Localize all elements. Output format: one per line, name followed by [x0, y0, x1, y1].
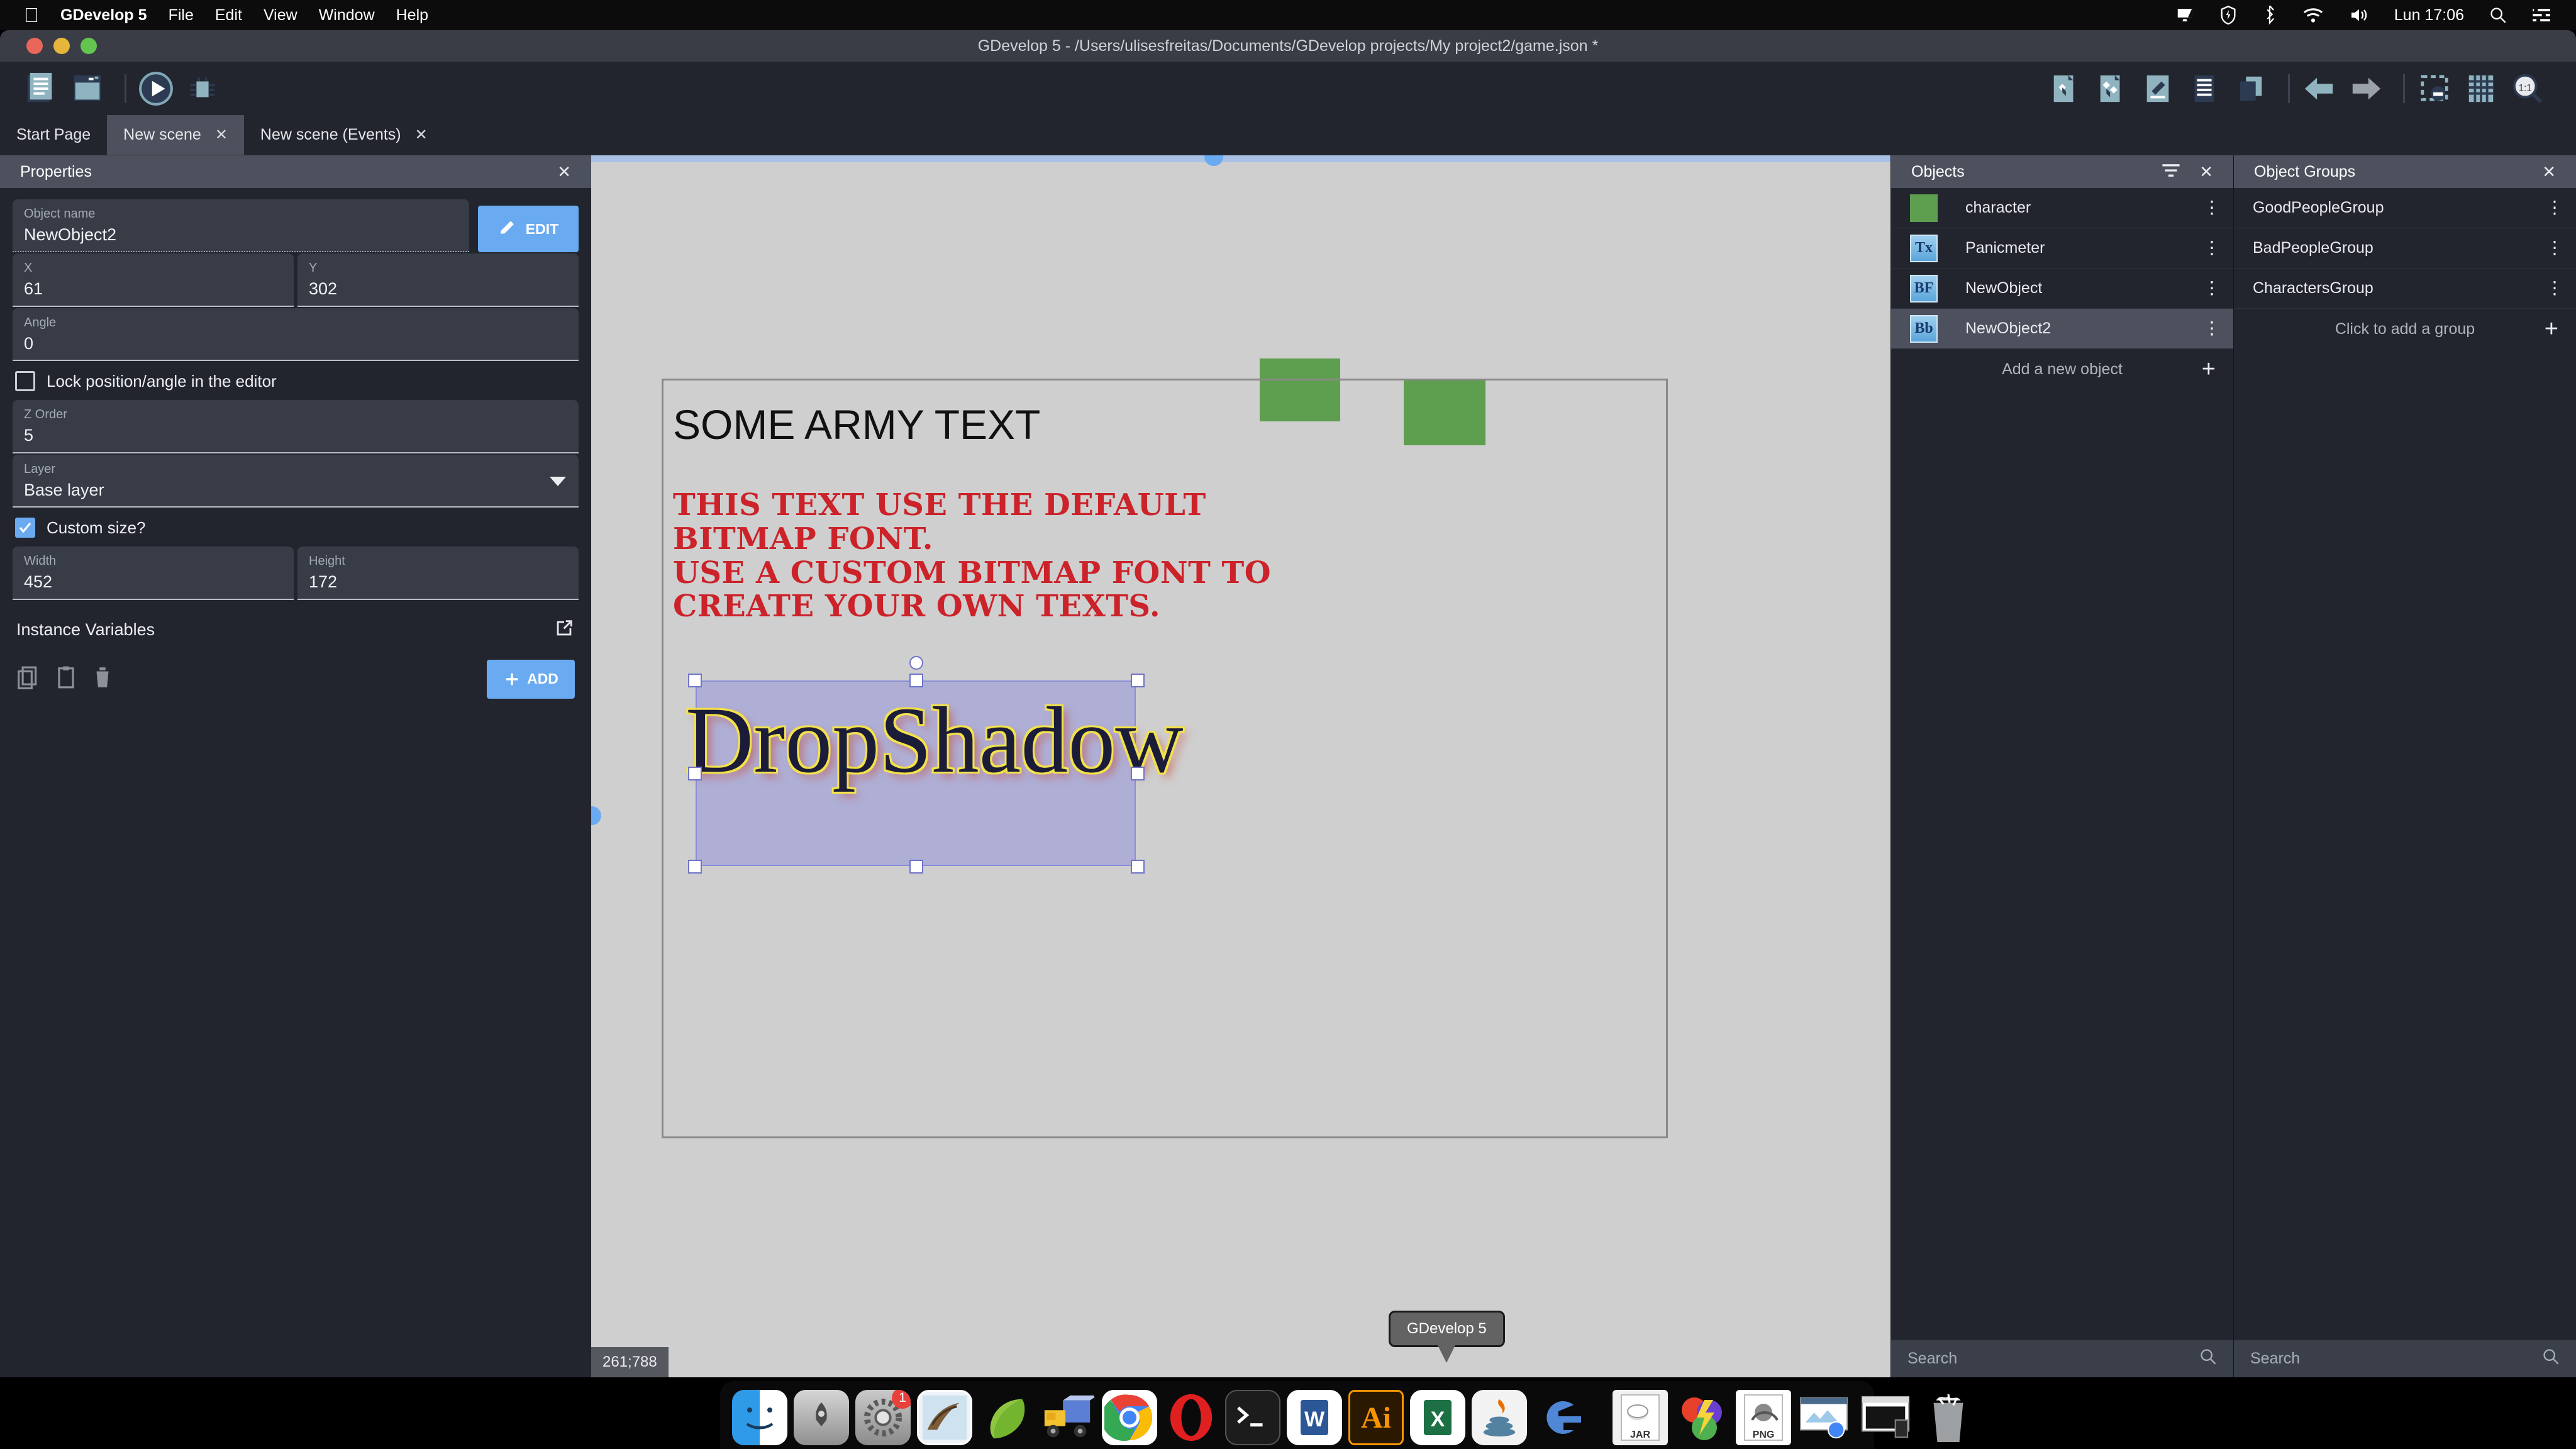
- group-list-item-goodpeople[interactable]: GoodPeopleGroup ⋮: [2234, 188, 2576, 228]
- properties-body: Object name NewObject2 EDIT X 61 Y: [0, 188, 591, 710]
- menu-item-window[interactable]: Window: [319, 6, 375, 25]
- redo-icon[interactable]: [2346, 69, 2385, 108]
- menu-app-name[interactable]: GDevelop 5: [60, 6, 147, 25]
- bitmap-text-line-4: CREATE YOUR OWN TEXTS.: [673, 590, 1271, 624]
- close-icon[interactable]: ✕: [2199, 164, 2213, 180]
- green-square-thumb: [1910, 194, 1938, 222]
- lock-position-checkbox[interactable]: [15, 371, 35, 391]
- bitmap-text-line-1: THIS TEXT USE THE DEFAULT: [673, 489, 1271, 523]
- height-field[interactable]: Height 172: [297, 547, 579, 599]
- app-file-icon[interactable]: [1674, 1390, 1729, 1445]
- edit-button[interactable]: EDIT: [478, 206, 579, 252]
- open-in-new-icon[interactable]: [553, 618, 575, 642]
- bitmap-text-icon: Bb: [1910, 315, 1938, 343]
- grid-icon[interactable]: [2462, 69, 2501, 108]
- layer-label: Layer: [24, 462, 567, 477]
- resize-handle-e[interactable]: [1131, 767, 1145, 780]
- adobe-illustrator-icon[interactable]: Ai: [1348, 1390, 1404, 1445]
- instance-variables-header: Instance Variables: [13, 601, 579, 648]
- custom-size-checkbox[interactable]: [15, 518, 35, 538]
- object-name-value: NewObject2: [24, 222, 458, 246]
- resize-handle-sw[interactable]: [688, 860, 702, 874]
- rotate-handle[interactable]: [909, 656, 923, 670]
- opera-icon[interactable]: [1163, 1390, 1219, 1445]
- apple-logo-icon[interactable]: : [24, 5, 39, 25]
- open-events-icon[interactable]: [2185, 69, 2224, 108]
- filter-icon[interactable]: [2162, 164, 2180, 180]
- resize-handle-ne[interactable]: [1131, 674, 1145, 687]
- menubar-clock[interactable]: Lun 17:06: [2394, 6, 2464, 25]
- lock-position-row[interactable]: Lock position/angle in the editor: [13, 362, 579, 400]
- object-name-field[interactable]: Object name NewObject2: [13, 199, 469, 252]
- wifi-icon[interactable]: [2302, 7, 2324, 23]
- object-name: NewObject2: [1965, 319, 2051, 338]
- toolbar-divider-3: [2403, 74, 2405, 103]
- sourcetree-icon[interactable]: [979, 1390, 1034, 1445]
- main-area: Properties ✕ Object name NewObject2 EDIT: [0, 155, 2576, 1377]
- kebab-menu-icon[interactable]: ⋮: [2203, 283, 2219, 294]
- add-new-object-button[interactable]: Add a new object +: [1891, 349, 2233, 389]
- scene-editor-canvas[interactable]: SOME ARMY TEXT THIS TEXT USE THE DEFAULT…: [591, 155, 1890, 1377]
- y-value: 302: [309, 276, 567, 300]
- object-name-label: Object name: [24, 206, 458, 222]
- svg-text:W: W: [1304, 1407, 1325, 1431]
- chevron-down-icon[interactable]: [550, 477, 566, 486]
- control-center-icon[interactable]: [2532, 7, 2551, 23]
- bitmap-font-icon: BF: [1910, 275, 1938, 303]
- panel-title: Properties: [20, 163, 92, 181]
- volume-icon[interactable]: [2349, 6, 2369, 24]
- paste-icon[interactable]: [55, 665, 77, 692]
- resize-handle-nw[interactable]: [688, 674, 702, 687]
- z-order-value: 5: [24, 423, 567, 447]
- editor-tabs: Start Page New scene ✕ New scene (Events…: [0, 115, 2576, 155]
- edit-button-label: EDIT: [526, 221, 558, 238]
- group-list-item-characters[interactable]: CharactersGroup ⋮: [2234, 269, 2576, 309]
- debug-icon[interactable]: [183, 69, 222, 108]
- tab-label: Start Page: [16, 126, 91, 144]
- google-chrome-icon[interactable]: [1102, 1390, 1157, 1445]
- angle-field[interactable]: Angle 0: [13, 308, 579, 361]
- position-row: X 61 Y 302: [13, 253, 579, 306]
- preview-play-icon[interactable]: [136, 69, 175, 108]
- truck-app-icon[interactable]: [1040, 1390, 1096, 1445]
- new-project-icon[interactable]: [21, 69, 60, 108]
- maximize-window-button[interactable]: [80, 38, 97, 54]
- shield-icon[interactable]: [2219, 6, 2237, 25]
- angle-value: 0: [24, 331, 567, 355]
- text-object-some-army-text[interactable]: SOME ARMY TEXT: [673, 401, 1040, 448]
- java-icon[interactable]: [1472, 1390, 1527, 1445]
- menu-item-help[interactable]: Help: [396, 6, 428, 25]
- svg-text:X: X: [1431, 1407, 1445, 1431]
- close-icon[interactable]: ✕: [557, 164, 571, 180]
- scene-resize-handle-top[interactable]: [1204, 155, 1223, 166]
- mail-icon[interactable]: [917, 1390, 972, 1445]
- menu-item-file[interactable]: File: [169, 6, 194, 25]
- add-button-label: ADD: [527, 670, 558, 687]
- resize-handle-s[interactable]: [909, 860, 923, 874]
- scene-resize-handle-left[interactable]: [591, 806, 601, 825]
- group-name: GoodPeopleGroup: [2253, 199, 2384, 217]
- panel-title: Object Groups: [2254, 163, 2355, 181]
- system-preferences-icon[interactable]: 1: [855, 1390, 911, 1445]
- groups-panel-header: Object Groups ✕: [2234, 155, 2576, 188]
- width-label: Width: [24, 553, 282, 569]
- svg-text:JAR: JAR: [1630, 1430, 1650, 1440]
- height-value: 172: [309, 569, 567, 593]
- cursor-coordinates: 261;788: [591, 1347, 669, 1377]
- microsoft-word-icon[interactable]: W: [1287, 1390, 1342, 1445]
- edit-scene-icon[interactable]: [2138, 69, 2177, 108]
- close-icon[interactable]: ✕: [2542, 164, 2556, 180]
- close-window-button[interactable]: [26, 38, 43, 54]
- bitmap-text-object[interactable]: THIS TEXT USE THE DEFAULT BITMAP FONT. U…: [673, 489, 1271, 624]
- close-icon[interactable]: ✕: [215, 126, 228, 144]
- add-group-label: Click to add a group: [2335, 320, 2475, 338]
- instance-variables-label: Instance Variables: [16, 620, 155, 640]
- tab-new-scene[interactable]: New scene ✕: [107, 115, 244, 155]
- tab-label: New scene (Events): [260, 126, 401, 144]
- layer-select[interactable]: Layer Base layer: [13, 455, 579, 508]
- objects-panel-header: Objects ✕: [1891, 155, 2233, 188]
- layer-value: Base layer: [24, 477, 567, 501]
- properties-panel: Properties ✕ Object name NewObject2 EDIT: [0, 155, 591, 1377]
- width-field[interactable]: Width 452: [13, 547, 294, 599]
- add-object-icon[interactable]: [2045, 69, 2084, 108]
- toolbar-right-group: 1:1: [2045, 69, 2555, 108]
- resize-handle-w[interactable]: [688, 767, 702, 780]
- objects-search-input[interactable]: Search: [1891, 1340, 2233, 1377]
- minimize-window-button[interactable]: [53, 38, 70, 54]
- app-tooltip: GDevelop 5: [1389, 1311, 1505, 1347]
- duplicate-icon[interactable]: [2231, 69, 2270, 108]
- menu-item-view[interactable]: View: [264, 6, 297, 25]
- search-icon[interactable]: [2542, 1348, 2560, 1370]
- add-variable-button[interactable]: ADD: [487, 660, 575, 699]
- kebab-menu-icon[interactable]: ⋮: [2546, 203, 2562, 213]
- window-controls: [26, 38, 97, 54]
- z-order-label: Z Order: [24, 407, 567, 423]
- window-stack-icon[interactable]: [1859, 1390, 1914, 1445]
- window-title-bar: GDevelop 5 - /Users/ulisesfreitas/Docume…: [0, 30, 2576, 62]
- svg-text:1:1: 1:1: [2518, 82, 2531, 93]
- object-groups-panel: Object Groups ✕ GoodPeopleGroup ⋮ BadPeo…: [2233, 155, 2576, 1377]
- groups-search-input[interactable]: Search: [2234, 1340, 2576, 1377]
- width-value: 452: [24, 569, 282, 593]
- close-icon[interactable]: ✕: [415, 126, 428, 144]
- kebab-menu-icon[interactable]: ⋮: [2546, 243, 2562, 253]
- pencil-icon: [498, 219, 517, 238]
- x-label: X: [24, 260, 282, 276]
- objects-search-placeholder: Search: [1907, 1350, 1957, 1368]
- group-name: BadPeopleGroup: [2253, 239, 2373, 257]
- x-field[interactable]: X 61: [13, 253, 294, 306]
- svg-text:PNG: PNG: [1753, 1430, 1775, 1440]
- bluetooth-icon[interactable]: [2262, 5, 2277, 25]
- copy-icon[interactable]: [16, 665, 39, 692]
- object-name: character: [1965, 199, 2031, 217]
- search-icon[interactable]: [2199, 1348, 2217, 1370]
- search-icon[interactable]: [2489, 6, 2507, 24]
- objects-panel: Objects ✕ character ⋮ Tx Panicmeter ⋮: [1890, 155, 2233, 1377]
- zoom-reset-icon[interactable]: 1:1: [2508, 69, 2547, 108]
- tab-start-page[interactable]: Start Page: [0, 115, 107, 155]
- kebab-menu-icon[interactable]: ⋮: [2203, 323, 2219, 334]
- object-list-item-newobject2[interactable]: Bb NewObject2 ⋮: [1891, 309, 2233, 349]
- angle-label: Angle: [24, 315, 567, 331]
- dropshadow-text-object[interactable]: DropShadow: [686, 693, 1516, 787]
- text-object-icon: Tx: [1910, 235, 1938, 262]
- gdevelop-window: GDevelop 5 - /Users/ulisesfreitas/Docume…: [0, 30, 2576, 1377]
- toolbar-divider: [125, 74, 126, 103]
- groups-search-placeholder: Search: [2250, 1350, 2300, 1368]
- open-project-icon[interactable]: [68, 69, 107, 108]
- object-list-item-panicmeter[interactable]: Tx Panicmeter ⋮: [1891, 228, 2233, 269]
- resize-handle-n[interactable]: [909, 674, 923, 687]
- screenshot-stack-icon[interactable]: [1797, 1390, 1853, 1445]
- x-value: 61: [24, 276, 282, 300]
- finder-icon[interactable]: [732, 1390, 787, 1445]
- undo-icon[interactable]: [2300, 69, 2339, 108]
- trash-icon[interactable]: [93, 665, 112, 692]
- add-group-button[interactable]: Click to add a group +: [2234, 309, 2576, 349]
- y-label: Y: [309, 260, 567, 276]
- png-file-icon[interactable]: PNG: [1736, 1390, 1791, 1445]
- properties-panel-header: Properties ✕: [0, 155, 591, 188]
- custom-size-row[interactable]: Custom size?: [13, 509, 579, 547]
- microsoft-excel-icon[interactable]: X: [1410, 1390, 1465, 1445]
- bitmap-text-line-3: USE A CUSTOM BITMAP FONT TO: [673, 557, 1271, 591]
- macos-dock: 1 W Ai X JAR PNG: [720, 1381, 1874, 1449]
- instance-variables-tools: ADD: [13, 648, 579, 710]
- gdevelop-icon[interactable]: [1533, 1390, 1589, 1445]
- size-row: Width 452 Height 172: [13, 547, 579, 599]
- tab-label: New scene: [123, 126, 201, 144]
- jar-file-icon[interactable]: JAR: [1613, 1390, 1668, 1445]
- plus-icon[interactable]: +: [2202, 357, 2216, 381]
- object-list-item-character[interactable]: character ⋮: [1891, 188, 2233, 228]
- height-label: Height: [309, 553, 567, 569]
- kebab-menu-icon[interactable]: ⋮: [2203, 243, 2219, 253]
- y-field[interactable]: Y 302: [297, 253, 579, 306]
- group-list-item-badpeople[interactable]: BadPeopleGroup ⋮: [2234, 228, 2576, 269]
- notification-badge: 1: [892, 1390, 911, 1409]
- toolbar-divider-2: [2288, 74, 2290, 103]
- add-new-object-label: Add a new object: [2002, 360, 2123, 379]
- select-area-icon[interactable]: [2415, 69, 2454, 108]
- launchpad-icon[interactable]: [794, 1390, 849, 1445]
- screen-mirroring-icon[interactable]: [2175, 6, 2194, 25]
- lock-position-label: Lock position/angle in the editor: [47, 372, 277, 391]
- add-object-from-asset-icon[interactable]: [2092, 69, 2131, 108]
- kebab-menu-icon[interactable]: ⋮: [2203, 203, 2219, 213]
- panel-title: Objects: [1911, 163, 1965, 181]
- plus-icon[interactable]: +: [2545, 317, 2558, 341]
- window-title: GDevelop 5 - /Users/ulisesfreitas/Docume…: [0, 37, 2576, 55]
- object-name-row: Object name NewObject2 EDIT: [13, 199, 579, 252]
- object-name: Panicmeter: [1965, 239, 2045, 257]
- main-toolbar: 1:1: [0, 62, 2576, 115]
- menu-item-edit[interactable]: Edit: [215, 6, 242, 25]
- trash-icon[interactable]: [1921, 1390, 1976, 1445]
- resize-handle-se[interactable]: [1131, 860, 1145, 874]
- terminal-icon[interactable]: [1225, 1390, 1280, 1445]
- z-order-field[interactable]: Z Order 5: [13, 400, 579, 453]
- kebab-menu-icon[interactable]: ⋮: [2546, 283, 2562, 294]
- custom-size-label: Custom size?: [47, 518, 146, 538]
- object-name: NewObject: [1965, 279, 2042, 297]
- group-name: CharactersGroup: [2253, 279, 2373, 297]
- bitmap-text-line-2: BITMAP FONT.: [673, 523, 1271, 557]
- tab-new-scene-events[interactable]: New scene (Events) ✕: [244, 115, 444, 155]
- macos-menu-bar:  GDevelop 5 File Edit View Window Help …: [0, 0, 2576, 30]
- scene-top-border: [591, 155, 1890, 162]
- plus-icon: [503, 670, 521, 688]
- object-list-item-newobject[interactable]: BF NewObject ⋮: [1891, 269, 2233, 309]
